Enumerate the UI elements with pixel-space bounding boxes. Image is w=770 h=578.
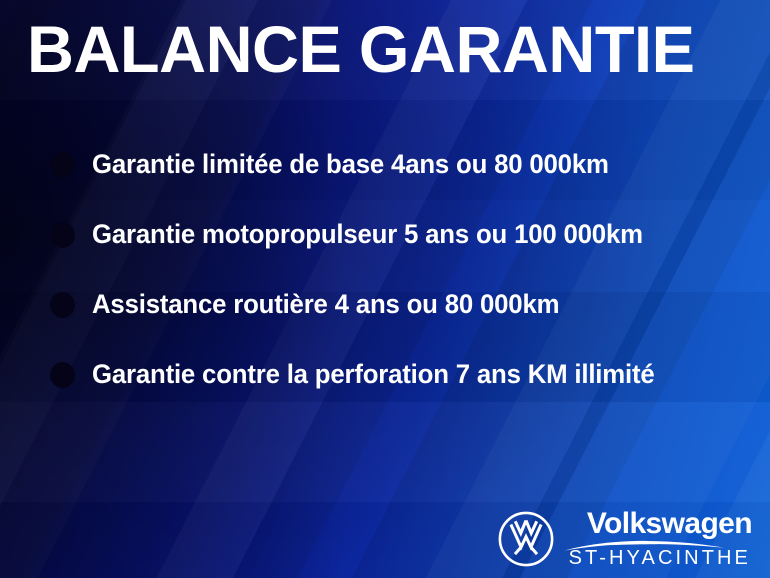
list-item: Garantie limitée de base 4ans ou 80 000k…	[0, 136, 770, 206]
logo-text-block: Volkswagen ST-HYACINTHE	[569, 509, 752, 568]
list-item-label: Garantie contre la perforation 7 ans KM …	[92, 354, 655, 394]
filled-circle-bullet-icon	[50, 152, 75, 178]
page-title: BALANCE GARANTIE	[27, 16, 694, 82]
filled-circle-bullet-icon	[50, 292, 75, 318]
filled-circle-bullet-icon	[50, 222, 75, 248]
list-item-label: Assistance routière 4 ans ou 80 000km	[92, 284, 559, 324]
dealer-logo-lockup: Volkswagen ST-HYACINTHE	[497, 509, 752, 568]
list-item-label: Garantie limitée de base 4ans ou 80 000k…	[92, 144, 609, 184]
slide-content: BALANCE GARANTIE Garantie limitée de bas…	[0, 0, 770, 578]
list-item: Assistance routière 4 ans ou 80 000km	[0, 276, 770, 346]
brand-wordmark: Volkswagen	[587, 509, 752, 539]
dealer-city-label: ST-HYACINTHE	[569, 548, 752, 568]
list-item: Garantie motopropulseur 5 ans ou 100 000…	[0, 206, 770, 276]
list-item-label: Garantie motopropulseur 5 ans ou 100 000…	[92, 214, 643, 254]
filled-circle-bullet-icon	[50, 362, 75, 388]
volkswagen-roundel-icon	[497, 510, 555, 568]
list-item: Garantie contre la perforation 7 ans KM …	[0, 346, 770, 416]
warranty-bullet-list: Garantie limitée de base 4ans ou 80 000k…	[0, 136, 770, 416]
promotional-slide: BALANCE GARANTIE Garantie limitée de bas…	[0, 0, 770, 578]
